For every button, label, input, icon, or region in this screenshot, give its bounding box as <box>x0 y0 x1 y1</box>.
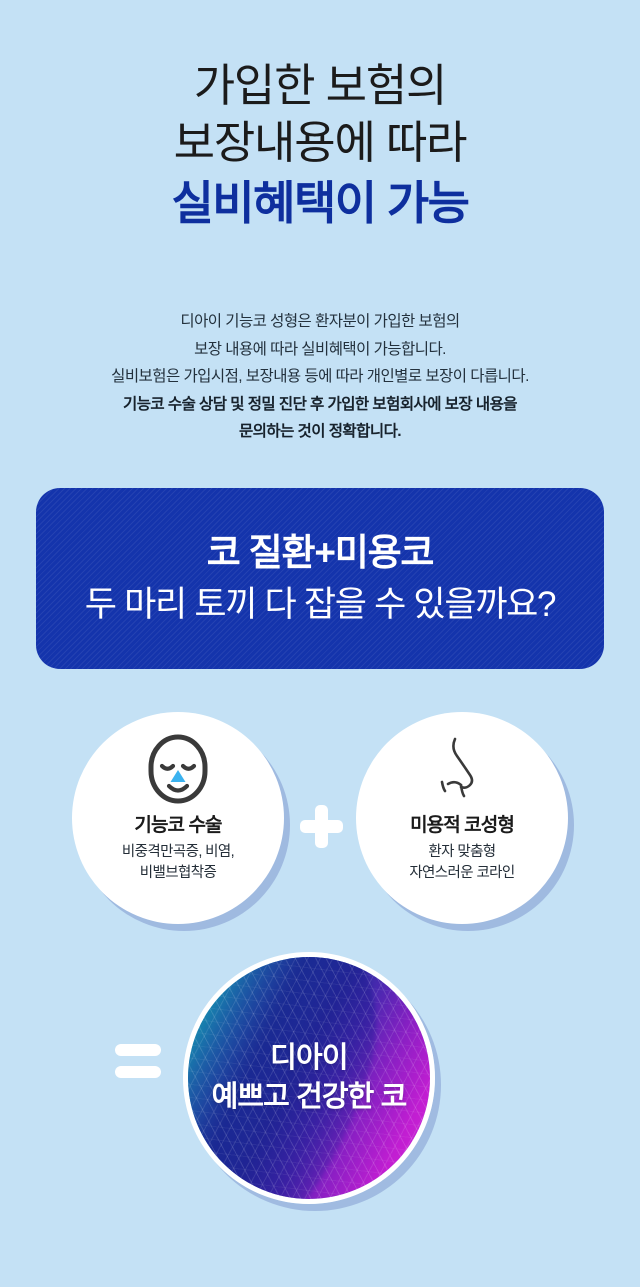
lead-line-4: 기능코 수술 상담 및 정밀 진단 후 가입한 보험회사에 보장 내용을 <box>0 391 640 419</box>
nose-profile-icon <box>431 732 493 806</box>
circle-sub-line-1: 비중격만곡증, 비염, <box>122 844 234 860</box>
circle-sub-line-2: 비밸브협착증 <box>140 865 216 881</box>
headline-line-3-accent: 실비혜택이 가능 <box>0 175 640 233</box>
comparison-circles: 기능코 수술 비중격만곡증, 비염, 비밸브협착증 미용적 코성형 환자 맞춤형… <box>0 712 640 944</box>
circle-sub-line-2: 자연스러운 코라인 <box>409 865 514 881</box>
circle-subtitle: 환자 맞춤형 자연스러운 코라인 <box>409 842 514 883</box>
result-line-2: 예쁘고 건강한 코 <box>212 1080 407 1115</box>
circle-functional-surgery: 기능코 수술 비중격만곡증, 비염, 비밸브협착증 <box>72 712 284 924</box>
promo-page: 가입한 보험의 보장내용에 따라 실비혜택이 가능 디아이 기능코 성형은 환자… <box>0 0 640 1287</box>
sleeping-face-icon <box>145 732 211 806</box>
lead-paragraph: 디아이 기능코 성형은 환자분이 가입한 보험의 보장 내용에 따라 실비혜택이… <box>0 308 640 446</box>
lead-line-1: 디아이 기능코 성형은 환자분이 가입한 보험의 <box>0 308 640 336</box>
result-text: 디아이 예쁘고 건강한 코 <box>212 1041 407 1115</box>
headline-line-1: 가입한 보험의 <box>0 58 640 115</box>
circle-sub-line-1: 환자 맞춤형 <box>428 844 495 860</box>
lead-line-2: 보장 내용에 따라 실비혜택이 가능합니다. <box>0 336 640 364</box>
equals-operator-icon <box>115 1044 161 1080</box>
banner-headline: 코 질환+미용코 <box>207 530 434 576</box>
result-line-1: 디아이 <box>212 1041 407 1076</box>
headline-line-2: 보장내용에 따라 <box>0 115 640 172</box>
circle-title: 기능코 수술 <box>134 810 221 837</box>
question-banner: 코 질환+미용코 두 마리 토끼 다 잡을 수 있을까요? <box>36 488 604 669</box>
circle-cosmetic-rhinoplasty: 미용적 코성형 환자 맞춤형 자연스러운 코라인 <box>356 712 568 924</box>
result-circle: 디아이 예쁘고 건강한 코 <box>183 952 435 1204</box>
lead-line-3: 실비보험은 가입시점, 보장내용 등에 따라 개인별로 보장이 다릅니다. <box>0 363 640 391</box>
circle-title: 미용적 코성형 <box>410 810 514 837</box>
plus-operator-icon <box>299 804 343 848</box>
lead-line-5: 문의하는 것이 정확합니다. <box>0 418 640 446</box>
result-section: 디아이 예쁘고 건강한 코 <box>0 952 640 1212</box>
circle-subtitle: 비중격만곡증, 비염, 비밸브협착증 <box>122 842 234 883</box>
banner-subheadline: 두 마리 토끼 다 잡을 수 있을까요? <box>85 582 555 628</box>
page-title: 가입한 보험의 보장내용에 따라 실비혜택이 가능 <box>0 58 640 233</box>
